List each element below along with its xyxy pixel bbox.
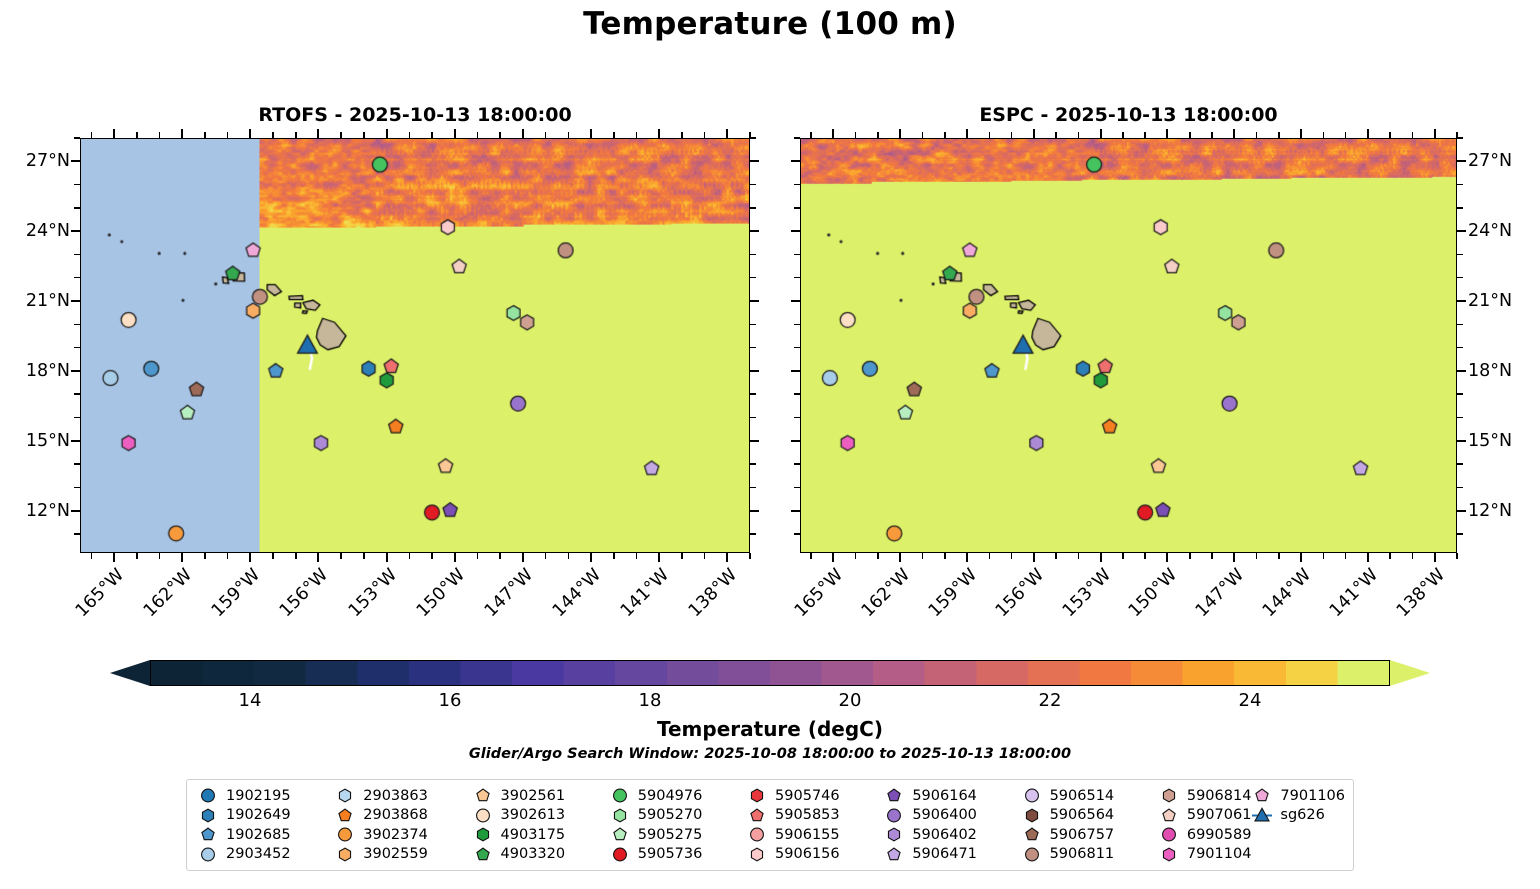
hexagon-marker-icon <box>1158 845 1180 864</box>
axis-tick <box>409 553 411 559</box>
axis-tick <box>1457 417 1463 419</box>
legend-item[interactable]: 1902685 <box>197 825 334 845</box>
axis-tick <box>74 487 80 489</box>
axis-tick <box>1457 347 1463 349</box>
legend-item[interactable]: 3902613 <box>472 806 609 826</box>
axis-tick <box>159 132 161 138</box>
axis-tick <box>750 324 756 326</box>
axis-tick <box>1345 553 1347 559</box>
axis-tick <box>750 184 756 186</box>
map-canvas-rtofs <box>81 139 749 552</box>
colorbar-extend-high-arrow <box>1390 660 1430 686</box>
axis-tick <box>1457 324 1463 326</box>
axis-tick <box>750 254 756 256</box>
axis-tick <box>1033 553 1035 562</box>
axis-tick <box>750 463 756 465</box>
legend-item[interactable]: 5905270 <box>609 806 746 826</box>
pentagon-marker-icon <box>609 825 631 844</box>
legend-item[interactable]: 5906155 <box>746 825 883 845</box>
axis-tick <box>272 132 274 138</box>
axis-tick <box>1011 132 1013 138</box>
legend-item-label: 7901104 <box>1187 846 1252 862</box>
legend-item[interactable]: 6990589 <box>1158 825 1252 845</box>
axis-tick <box>1278 553 1280 559</box>
axis-tick <box>1055 553 1057 559</box>
axis-tick <box>545 132 547 138</box>
axis-tick <box>1211 132 1213 138</box>
axis-tick <box>1412 132 1414 138</box>
legend-item[interactable]: 4903175 <box>472 825 609 845</box>
axis-tick <box>74 393 80 395</box>
axis-tick <box>794 417 800 419</box>
legend-item-label: 5906402 <box>912 827 977 843</box>
axis-tick <box>522 553 524 562</box>
axis-tick <box>794 463 800 465</box>
hexagon-marker-icon <box>1021 806 1043 825</box>
pentagon-marker-icon <box>472 786 494 805</box>
legend-item-label: 1902649 <box>226 807 291 823</box>
axis-tick <box>966 129 968 138</box>
axis-tick <box>1011 553 1013 559</box>
y-axis-tick-label: 18°N <box>1468 361 1538 381</box>
legend-item[interactable]: 2903863 <box>334 786 471 806</box>
search-window-text: Glider/Argo Search Window: 2025-10-08 18… <box>0 746 1540 762</box>
axis-tick <box>1456 553 1458 559</box>
axis-tick <box>1457 160 1466 162</box>
circle-marker-icon <box>197 845 219 864</box>
axis-tick <box>794 533 800 535</box>
legend-item-label: 5906814 <box>1187 788 1252 804</box>
circle-marker-icon <box>609 845 631 864</box>
axis-tick <box>750 160 759 162</box>
legend-item-label: 5906471 <box>912 846 977 862</box>
axis-tick <box>750 300 759 302</box>
colorbar[interactable]: 141618202224 <box>110 660 1430 686</box>
legend-item[interactable]: 5904976 <box>609 786 746 806</box>
axis-tick <box>794 137 800 139</box>
axis-tick <box>658 553 660 562</box>
axis-tick <box>74 533 80 535</box>
colorbar-tick-label: 16 <box>439 690 462 711</box>
colorbar-label: Temperature (degC) <box>0 717 1540 741</box>
legend-item-label: 5906811 <box>1050 846 1115 862</box>
colorbar-tick-label: 20 <box>839 690 862 711</box>
axis-tick <box>1211 553 1213 559</box>
colorbar-tick-label: 14 <box>239 690 262 711</box>
axis-tick <box>1457 440 1466 442</box>
axis-tick <box>1122 132 1124 138</box>
axis-tick <box>1457 300 1466 302</box>
legend-item[interactable]: 5905853 <box>746 806 883 826</box>
axis-tick <box>1300 129 1302 138</box>
pentagon-marker-icon <box>197 825 219 844</box>
axis-tick <box>944 132 946 138</box>
axis-tick <box>750 370 759 372</box>
axis-tick <box>91 553 93 559</box>
axis-tick <box>855 553 857 559</box>
legend-item-label: 5905270 <box>638 807 703 823</box>
circle-marker-icon <box>883 806 905 825</box>
axis-tick <box>1323 132 1325 138</box>
legend-item[interactable]: 2903868 <box>334 806 471 826</box>
legend-item[interactable]: 5905736 <box>609 845 746 865</box>
axis-tick <box>791 440 800 442</box>
axis-tick <box>750 207 756 209</box>
legend-item[interactable]: 5906156 <box>746 845 883 865</box>
axis-tick <box>340 553 342 559</box>
circle-marker-icon <box>334 825 356 844</box>
axis-tick <box>386 553 388 562</box>
legend-item[interactable]: 2903452 <box>197 845 334 865</box>
axis-tick <box>726 553 728 562</box>
axis-tick <box>1367 129 1369 138</box>
axis-tick <box>181 553 183 562</box>
circle-marker-icon <box>197 786 219 805</box>
axis-tick <box>295 132 297 138</box>
axis-tick <box>1323 553 1325 559</box>
legend-item-label: 4903320 <box>501 846 566 862</box>
axis-tick <box>74 137 80 139</box>
colorbar-tick-label: 18 <box>639 690 662 711</box>
legend[interactable]: 1902195190264919026852903452290386329038… <box>186 779 1354 871</box>
axis-tick <box>791 510 800 512</box>
legend-item-label: 2903863 <box>363 788 428 804</box>
hexagon-marker-icon <box>883 825 905 844</box>
axis-tick <box>1144 553 1146 559</box>
axis-tick <box>1367 553 1369 562</box>
axis-tick <box>613 553 615 559</box>
axis-tick <box>966 553 968 562</box>
axis-tick <box>1033 129 1035 138</box>
axis-tick <box>454 553 456 562</box>
circle-marker-icon <box>746 825 768 844</box>
axis-tick <box>922 132 924 138</box>
axis-tick <box>477 132 479 138</box>
axis-tick <box>750 417 756 419</box>
axis-tick <box>363 132 365 138</box>
axis-tick <box>477 553 479 559</box>
axis-tick <box>989 553 991 559</box>
legend-item[interactable]: 5906402 <box>883 825 1020 845</box>
axis-tick <box>1055 132 1057 138</box>
axis-tick <box>499 132 501 138</box>
legend-item[interactable]: 5906471 <box>883 845 1020 865</box>
axis-tick <box>989 132 991 138</box>
axis-tick <box>855 132 857 138</box>
axis-tick <box>545 553 547 559</box>
axis-tick <box>431 132 433 138</box>
axis-tick <box>74 184 80 186</box>
axis-tick <box>794 254 800 256</box>
axis-tick <box>71 160 80 162</box>
page-title: Temperature (100 m) <box>0 6 1540 42</box>
axis-tick <box>71 510 80 512</box>
legend-item[interactable]: sg626 <box>1251 806 1345 826</box>
legend-item[interactable]: 3902561 <box>472 786 609 806</box>
hexagon-marker-icon <box>334 845 356 864</box>
axis-tick <box>1457 254 1463 256</box>
axis-tick <box>636 553 638 559</box>
axis-tick <box>295 553 297 559</box>
axis-tick <box>1457 370 1466 372</box>
axis-tick <box>1278 132 1280 138</box>
y-axis-tick-label: 27°N <box>0 151 70 171</box>
legend-item[interactable]: 5905746 <box>746 786 883 806</box>
axis-tick <box>794 184 800 186</box>
legend-item-label: 5906155 <box>775 827 840 843</box>
hexagon-marker-icon <box>609 806 631 825</box>
legend-item[interactable]: 5906514 <box>1021 786 1158 806</box>
axis-tick <box>810 553 812 559</box>
legend-item[interactable]: 4903320 <box>472 845 609 865</box>
axis-tick <box>71 230 80 232</box>
colorbar-extend-low-arrow <box>110 660 150 686</box>
axis-tick <box>1078 553 1080 559</box>
axis-tick <box>810 132 812 138</box>
legend-item[interactable]: 5907061 <box>1158 806 1252 826</box>
y-axis-tick-label: 15°N <box>0 431 70 451</box>
axis-tick <box>74 324 80 326</box>
panel-title-rtofs: RTOFS - 2025-10-13 18:00:00 <box>80 104 750 126</box>
y-axis-tick-label: 24°N <box>0 221 70 241</box>
y-axis-tick-label: 24°N <box>1468 221 1538 241</box>
axis-tick <box>340 132 342 138</box>
pentagon-marker-icon <box>883 845 905 864</box>
axis-tick <box>71 370 80 372</box>
axis-tick <box>750 393 756 395</box>
legend-item[interactable]: 5905275 <box>609 825 746 845</box>
axis-tick <box>568 553 570 559</box>
axis-tick <box>1144 132 1146 138</box>
axis-tick <box>568 132 570 138</box>
axis-tick <box>794 393 800 395</box>
axis-tick <box>454 129 456 138</box>
legend-item-label: 6990589 <box>1187 827 1252 843</box>
legend-item-label: 5905275 <box>638 827 703 843</box>
axis-tick <box>791 300 800 302</box>
figure-root: Temperature (100 m) RTOFS - 2025-10-13 1… <box>0 0 1540 889</box>
axis-tick <box>1122 553 1124 559</box>
axis-tick <box>1434 129 1436 138</box>
axis-tick <box>74 254 80 256</box>
axis-tick <box>750 533 756 535</box>
map-panel-espc[interactable] <box>800 138 1457 553</box>
pentagon-marker-icon <box>746 806 768 825</box>
legend-item[interactable]: 1902649 <box>197 806 334 826</box>
legend-item-label: 5906164 <box>912 788 977 804</box>
axis-tick <box>1457 277 1463 279</box>
legend-item[interactable]: 5906811 <box>1021 845 1158 865</box>
legend-item[interactable]: 7901106 <box>1251 786 1345 806</box>
colorbar-body <box>150 660 1390 686</box>
axis-tick <box>750 487 756 489</box>
axis-tick <box>1078 132 1080 138</box>
y-axis-tick-label: 18°N <box>0 361 70 381</box>
legend-item[interactable]: 5906400 <box>883 806 1020 826</box>
axis-tick <box>1256 132 1258 138</box>
axis-tick <box>74 277 80 279</box>
axis-tick <box>1233 129 1235 138</box>
axis-tick <box>136 132 138 138</box>
axis-tick <box>272 553 274 559</box>
circle-marker-icon <box>1021 786 1043 805</box>
legend-item-label: 1902195 <box>226 788 291 804</box>
legend-grid: 1902195190264919026852903452290386329038… <box>197 786 1345 864</box>
axis-tick <box>1256 553 1258 559</box>
axis-tick <box>794 347 800 349</box>
axis-tick <box>1457 463 1463 465</box>
panel-title-espc: ESPC - 2025-10-13 18:00:00 <box>800 104 1457 126</box>
axis-tick <box>1457 393 1463 395</box>
axis-tick <box>791 160 800 162</box>
map-canvas-espc <box>801 139 1456 552</box>
axis-tick <box>113 553 115 562</box>
hexagon-marker-icon <box>334 786 356 805</box>
triangle-line-marker-icon <box>1251 806 1273 825</box>
axis-tick <box>74 463 80 465</box>
axis-tick <box>91 132 93 138</box>
axis-tick <box>794 277 800 279</box>
axis-tick <box>922 553 924 559</box>
axis-tick <box>1100 129 1102 138</box>
legend-item-label: 3902561 <box>501 788 566 804</box>
axis-tick <box>431 553 433 559</box>
axis-tick <box>409 132 411 138</box>
y-axis-tick-label: 12°N <box>0 501 70 521</box>
axis-tick <box>832 129 834 138</box>
axis-tick <box>613 132 615 138</box>
axis-tick <box>750 137 756 139</box>
legend-item-label: 5906564 <box>1050 807 1115 823</box>
y-axis-tick-label: 21°N <box>0 291 70 311</box>
legend-item-label: 5904976 <box>638 788 703 804</box>
axis-tick <box>704 553 706 559</box>
axis-tick <box>74 207 80 209</box>
legend-item-label: 3902613 <box>501 807 566 823</box>
axis-tick <box>726 129 728 138</box>
axis-tick <box>899 553 901 562</box>
pentagon-marker-icon <box>334 806 356 825</box>
axis-tick <box>1434 553 1436 562</box>
axis-tick <box>1300 553 1302 562</box>
axis-tick <box>317 553 319 562</box>
axis-tick <box>1412 553 1414 559</box>
legend-item-label: 2903868 <box>363 807 428 823</box>
pentagon-marker-icon <box>472 845 494 864</box>
legend-item[interactable]: 3902374 <box>334 825 471 845</box>
axis-tick <box>1457 510 1466 512</box>
legend-item-label: 3902559 <box>363 846 428 862</box>
y-axis-tick-label: 15°N <box>1468 431 1538 451</box>
axis-tick <box>750 277 756 279</box>
axis-tick <box>636 132 638 138</box>
legend-item[interactable]: 3902559 <box>334 845 471 865</box>
axis-tick <box>227 553 229 559</box>
axis-tick <box>386 129 388 138</box>
axis-tick <box>1166 129 1168 138</box>
axis-tick <box>1389 132 1391 138</box>
axis-tick <box>1166 553 1168 562</box>
axis-tick <box>71 440 80 442</box>
legend-item[interactable]: 5906164 <box>883 786 1020 806</box>
y-axis-tick-label: 12°N <box>1468 501 1538 521</box>
axis-tick <box>681 553 683 559</box>
axis-tick <box>71 300 80 302</box>
circle-marker-icon <box>1158 825 1180 844</box>
axis-tick <box>750 347 756 349</box>
axis-tick <box>794 324 800 326</box>
axis-tick <box>136 553 138 559</box>
axis-tick <box>113 129 115 138</box>
map-panel-rtofs[interactable] <box>80 138 750 553</box>
axis-tick <box>159 553 161 559</box>
axis-tick <box>1345 132 1347 138</box>
axis-tick <box>791 230 800 232</box>
legend-item-label: 4903175 <box>501 827 566 843</box>
axis-tick <box>1189 132 1191 138</box>
axis-tick <box>249 553 251 562</box>
legend-item-label: 5906757 <box>1050 827 1115 843</box>
pentagon-marker-icon <box>1021 825 1043 844</box>
hexagon-marker-icon <box>1158 786 1180 805</box>
axis-tick <box>877 132 879 138</box>
axis-tick <box>317 129 319 138</box>
legend-item[interactable]: 1902195 <box>197 786 334 806</box>
legend-item[interactable]: 7901104 <box>1158 845 1252 865</box>
legend-item[interactable]: 5906564 <box>1021 806 1158 826</box>
colorbar-tick-label: 22 <box>1039 690 1062 711</box>
legend-item-label: 5905736 <box>638 846 703 862</box>
axis-tick <box>794 487 800 489</box>
axis-tick <box>204 553 206 559</box>
pentagon-marker-icon <box>1251 786 1273 805</box>
axis-tick <box>658 129 660 138</box>
legend-item-label: 5907061 <box>1187 807 1252 823</box>
legend-item-label: 2903452 <box>226 846 291 862</box>
hexagon-marker-icon <box>472 825 494 844</box>
axis-tick <box>590 553 592 562</box>
legend-item-label: sg626 <box>1280 807 1324 823</box>
axis-tick <box>74 347 80 349</box>
legend-item[interactable]: 5906757 <box>1021 825 1158 845</box>
axis-tick <box>791 370 800 372</box>
axis-tick <box>749 553 751 559</box>
hexagon-marker-icon <box>197 806 219 825</box>
axis-tick <box>1457 207 1463 209</box>
axis-tick <box>499 553 501 559</box>
circle-marker-icon <box>472 806 494 825</box>
legend-item-label: 5906156 <box>775 846 840 862</box>
axis-tick <box>74 417 80 419</box>
axis-tick <box>1457 184 1463 186</box>
y-axis-tick-label: 27°N <box>1468 151 1538 171</box>
circle-marker-icon <box>1021 845 1043 864</box>
legend-item-label: 1902685 <box>226 827 291 843</box>
axis-tick <box>877 553 879 559</box>
legend-item[interactable]: 5906814 <box>1158 786 1252 806</box>
axis-tick <box>1233 553 1235 562</box>
axis-tick <box>1457 487 1463 489</box>
axis-tick <box>1189 553 1191 559</box>
axis-tick <box>899 129 901 138</box>
axis-tick <box>227 132 229 138</box>
axis-tick <box>249 129 251 138</box>
axis-tick <box>522 129 524 138</box>
axis-tick <box>794 207 800 209</box>
axis-tick <box>704 132 706 138</box>
axis-tick <box>750 230 759 232</box>
axis-tick <box>1389 553 1391 559</box>
